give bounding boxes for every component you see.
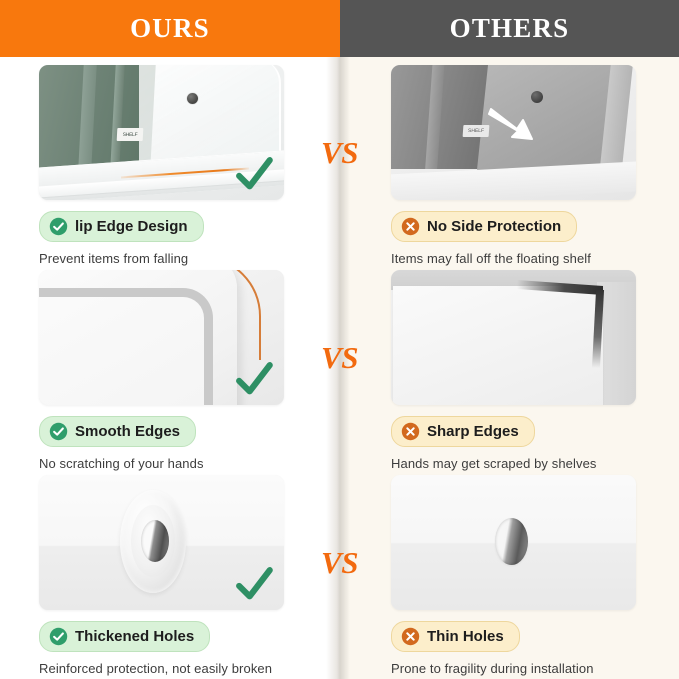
- row-3-ours-photo: [39, 475, 284, 610]
- row-3-others-panel: Thin Holes Prone to fragility during ins…: [340, 467, 679, 669]
- row-1-ours-pill-label: lip Edge Design: [75, 218, 188, 235]
- comparison-row-3: Thickened Holes Reinforced protection, n…: [0, 467, 679, 669]
- row-1-others-photo: SHELF: [391, 65, 636, 200]
- row-2-others-panel: Sharp Edges Hands may get scraped by she…: [340, 262, 679, 464]
- row-1-ours-panel: SHELF lip Edge Design Prevent items fro: [0, 57, 340, 259]
- row-1-others-pill: No Side Protection: [391, 211, 577, 242]
- product-brand-tag: SHELF: [117, 128, 144, 141]
- screw-icon: [531, 91, 543, 103]
- header-bar: OURS OTHERS: [0, 0, 679, 57]
- row-2-ours-pill: Smooth Edges: [39, 416, 196, 447]
- row-2-others-pill: Sharp Edges: [391, 416, 535, 447]
- row-1-others-panel: SHELF No Side Protection Items may fall …: [340, 57, 679, 259]
- header-ours: OURS: [0, 0, 340, 57]
- row-2-ours-pill-label: Smooth Edges: [75, 423, 180, 440]
- check-circle-icon: [49, 422, 68, 441]
- check-circle-icon: [49, 627, 68, 646]
- smooth-edge-highlight: [157, 270, 261, 360]
- comparison-rows: SHELF lip Edge Design Prevent items fro: [0, 57, 679, 679]
- check-mark-icon: [233, 359, 275, 401]
- check-circle-icon: [49, 217, 68, 236]
- header-others: OTHERS: [340, 0, 679, 57]
- row-3-ours-caption: Reinforced protection, not easily broken: [39, 661, 340, 676]
- mounting-hole: [495, 518, 528, 565]
- row-2-others-pill-label: Sharp Edges: [427, 423, 519, 440]
- row-1-others-pill-label: No Side Protection: [427, 218, 561, 235]
- x-circle-icon: [401, 627, 420, 646]
- comparison-infographic: OURS OTHERS SHELF: [0, 0, 679, 679]
- row-1-ours-pill: lip Edge Design: [39, 211, 204, 242]
- check-mark-icon: [233, 564, 275, 606]
- row-3-ours-panel: Thickened Holes Reinforced protection, n…: [0, 467, 340, 669]
- check-mark-icon: [233, 154, 275, 196]
- row-3-others-pill: Thin Holes: [391, 621, 520, 652]
- x-circle-icon: [401, 422, 420, 441]
- comparison-row-2: Smooth Edges No scratching of your hands: [0, 262, 679, 464]
- row-3-others-photo: [391, 475, 636, 610]
- falling-arrow-icon: [487, 105, 537, 143]
- row-3-others-pill-label: Thin Holes: [427, 628, 504, 645]
- x-circle-icon: [401, 217, 420, 236]
- row-3-others-caption: Prone to fragility during installation: [391, 661, 679, 676]
- row-2-others-photo: [391, 270, 636, 405]
- row-2-ours-panel: Smooth Edges No scratching of your hands: [0, 262, 340, 464]
- row-2-ours-photo: [39, 270, 284, 405]
- mounting-hole: [141, 520, 169, 562]
- row-3-ours-pill-label: Thickened Holes: [75, 628, 194, 645]
- screw-icon: [187, 93, 198, 104]
- product-brand-tag: SHELF: [463, 125, 490, 137]
- comparison-row-1: SHELF lip Edge Design Prevent items fro: [0, 57, 679, 259]
- row-3-ours-pill: Thickened Holes: [39, 621, 210, 652]
- row-1-ours-photo: SHELF: [39, 65, 284, 200]
